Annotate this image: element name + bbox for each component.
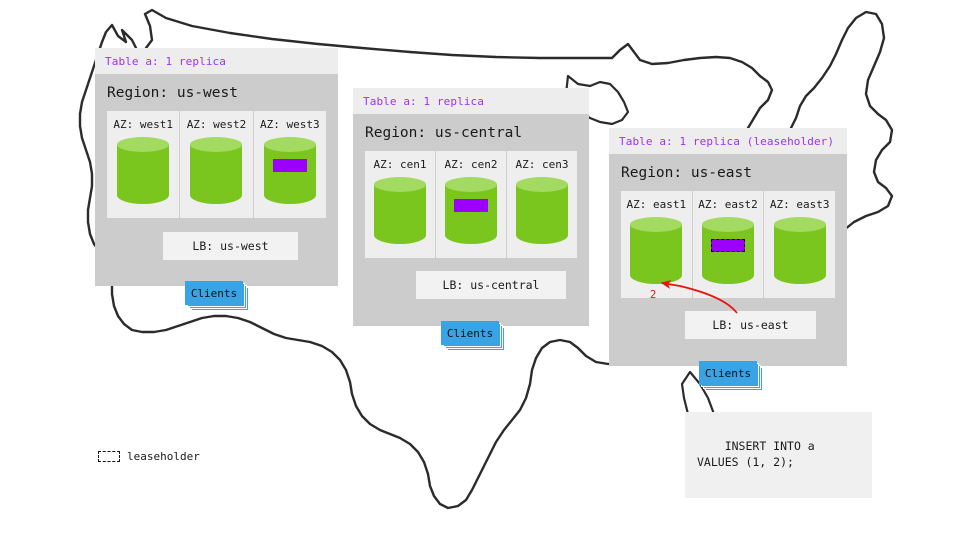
load-balancer-us-east[interactable]: LB: us-east (685, 311, 816, 339)
cylinder-body (630, 224, 682, 284)
legend: leaseholder (98, 450, 200, 463)
clients-label: Clients (447, 327, 493, 340)
az-strip: AZ: cen1 AZ: cen2 AZ: cen3 (365, 151, 577, 258)
cylinder-body (264, 144, 316, 204)
db-node-cylinder-icon[interactable] (445, 177, 497, 249)
card-header-replica-label: Table a: 1 replica (leaseholder) (609, 128, 847, 154)
replica-block (454, 199, 488, 212)
region-title: Region: us-central (353, 114, 589, 151)
db-node-cylinder-icon[interactable] (264, 137, 316, 209)
cylinder-body (445, 184, 497, 244)
cylinder-top (445, 177, 497, 192)
clients-label: Clients (191, 287, 237, 300)
db-node-cylinder-icon[interactable] (117, 137, 169, 209)
clients-front-sheet[interactable]: Clients (185, 281, 243, 305)
card-header-replica-label: Table a: 1 replica (353, 88, 589, 114)
db-node-cylinder-icon[interactable] (702, 217, 754, 289)
az-cell-east3[interactable]: AZ: east3 (763, 191, 835, 298)
card-header-replica-label: Table a: 1 replica (95, 48, 338, 74)
replica-block-leaseholder (711, 239, 745, 252)
az-cell-west1[interactable]: AZ: west1 (107, 111, 179, 218)
clients-label: Clients (705, 367, 751, 380)
region-card-us-central[interactable]: Table a: 1 replica Region: us-central AZ… (353, 88, 589, 326)
legend-label: leaseholder (127, 450, 200, 463)
region-card-us-west[interactable]: Table a: 1 replica Region: us-west AZ: w… (95, 48, 338, 286)
db-node-cylinder-icon[interactable] (374, 177, 426, 249)
az-cell-cen1[interactable]: AZ: cen1 (365, 151, 435, 258)
db-node-cylinder-icon[interactable] (516, 177, 568, 249)
az-cell-cen2[interactable]: AZ: cen2 (435, 151, 506, 258)
db-node-cylinder-icon[interactable] (630, 217, 682, 289)
clients-button-us-west[interactable]: Clients (185, 281, 243, 305)
az-label: AZ: cen1 (365, 158, 435, 171)
lb-label: LB: us-central (443, 278, 540, 292)
cylinder-body (117, 144, 169, 204)
az-strip: AZ: east1 AZ: east2 AZ: east3 (621, 191, 835, 298)
load-balancer-us-west[interactable]: LB: us-west (163, 232, 298, 260)
az-label: AZ: east2 (693, 198, 764, 211)
db-node-cylinder-icon[interactable] (190, 137, 242, 209)
az-label: AZ: west1 (107, 118, 179, 131)
az-cell-west2[interactable]: AZ: west2 (179, 111, 252, 218)
lb-label: LB: us-east (712, 318, 788, 332)
cylinder-body (774, 224, 826, 284)
region-title: Region: us-east (609, 154, 847, 191)
cylinder-body (702, 224, 754, 284)
load-balancer-us-central[interactable]: LB: us-central (416, 271, 566, 299)
dashed-rect-icon (98, 451, 120, 462)
sql-text: INSERT INTO a VALUES (1, 2); (697, 439, 815, 470)
clients-button-us-central[interactable]: Clients (441, 321, 499, 345)
az-cell-cen3[interactable]: AZ: cen3 (506, 151, 577, 258)
clients-front-sheet[interactable]: Clients (441, 321, 499, 345)
cylinder-top (374, 177, 426, 192)
cylinder-body (516, 184, 568, 244)
az-label: AZ: west2 (180, 118, 252, 131)
region-card-us-east[interactable]: Table a: 1 replica (leaseholder) Region:… (609, 128, 847, 366)
az-label: AZ: west3 (254, 118, 326, 131)
diagram-canvas: Table a: 1 replica Region: us-west AZ: w… (0, 0, 960, 540)
cylinder-top (630, 217, 682, 232)
clients-front-sheet[interactable]: Clients (699, 361, 757, 385)
az-cell-west3[interactable]: AZ: west3 (253, 111, 326, 218)
arrow-step-label: 2 (650, 289, 656, 301)
cylinder-top (774, 217, 826, 232)
az-label: AZ: cen2 (436, 158, 506, 171)
sql-statement-note: INSERT INTO a VALUES (1, 2); (685, 412, 872, 498)
replica-block (273, 159, 307, 172)
db-node-cylinder-icon[interactable] (774, 217, 826, 289)
az-label: AZ: east3 (764, 198, 835, 211)
cylinder-body (190, 144, 242, 204)
az-strip: AZ: west1 AZ: west2 AZ: west3 (107, 111, 326, 218)
az-cell-east2[interactable]: AZ: east2 (692, 191, 764, 298)
az-cell-east1[interactable]: AZ: east1 (621, 191, 692, 298)
cylinder-body (374, 184, 426, 244)
cylinder-top (264, 137, 316, 152)
az-label: AZ: cen3 (507, 158, 577, 171)
cylinder-top (117, 137, 169, 152)
lb-label: LB: us-west (192, 239, 268, 253)
clients-button-us-east[interactable]: Clients (699, 361, 757, 385)
az-label: AZ: east1 (621, 198, 692, 211)
cylinder-top (516, 177, 568, 192)
region-title: Region: us-west (95, 74, 338, 111)
cylinder-top (702, 217, 754, 232)
